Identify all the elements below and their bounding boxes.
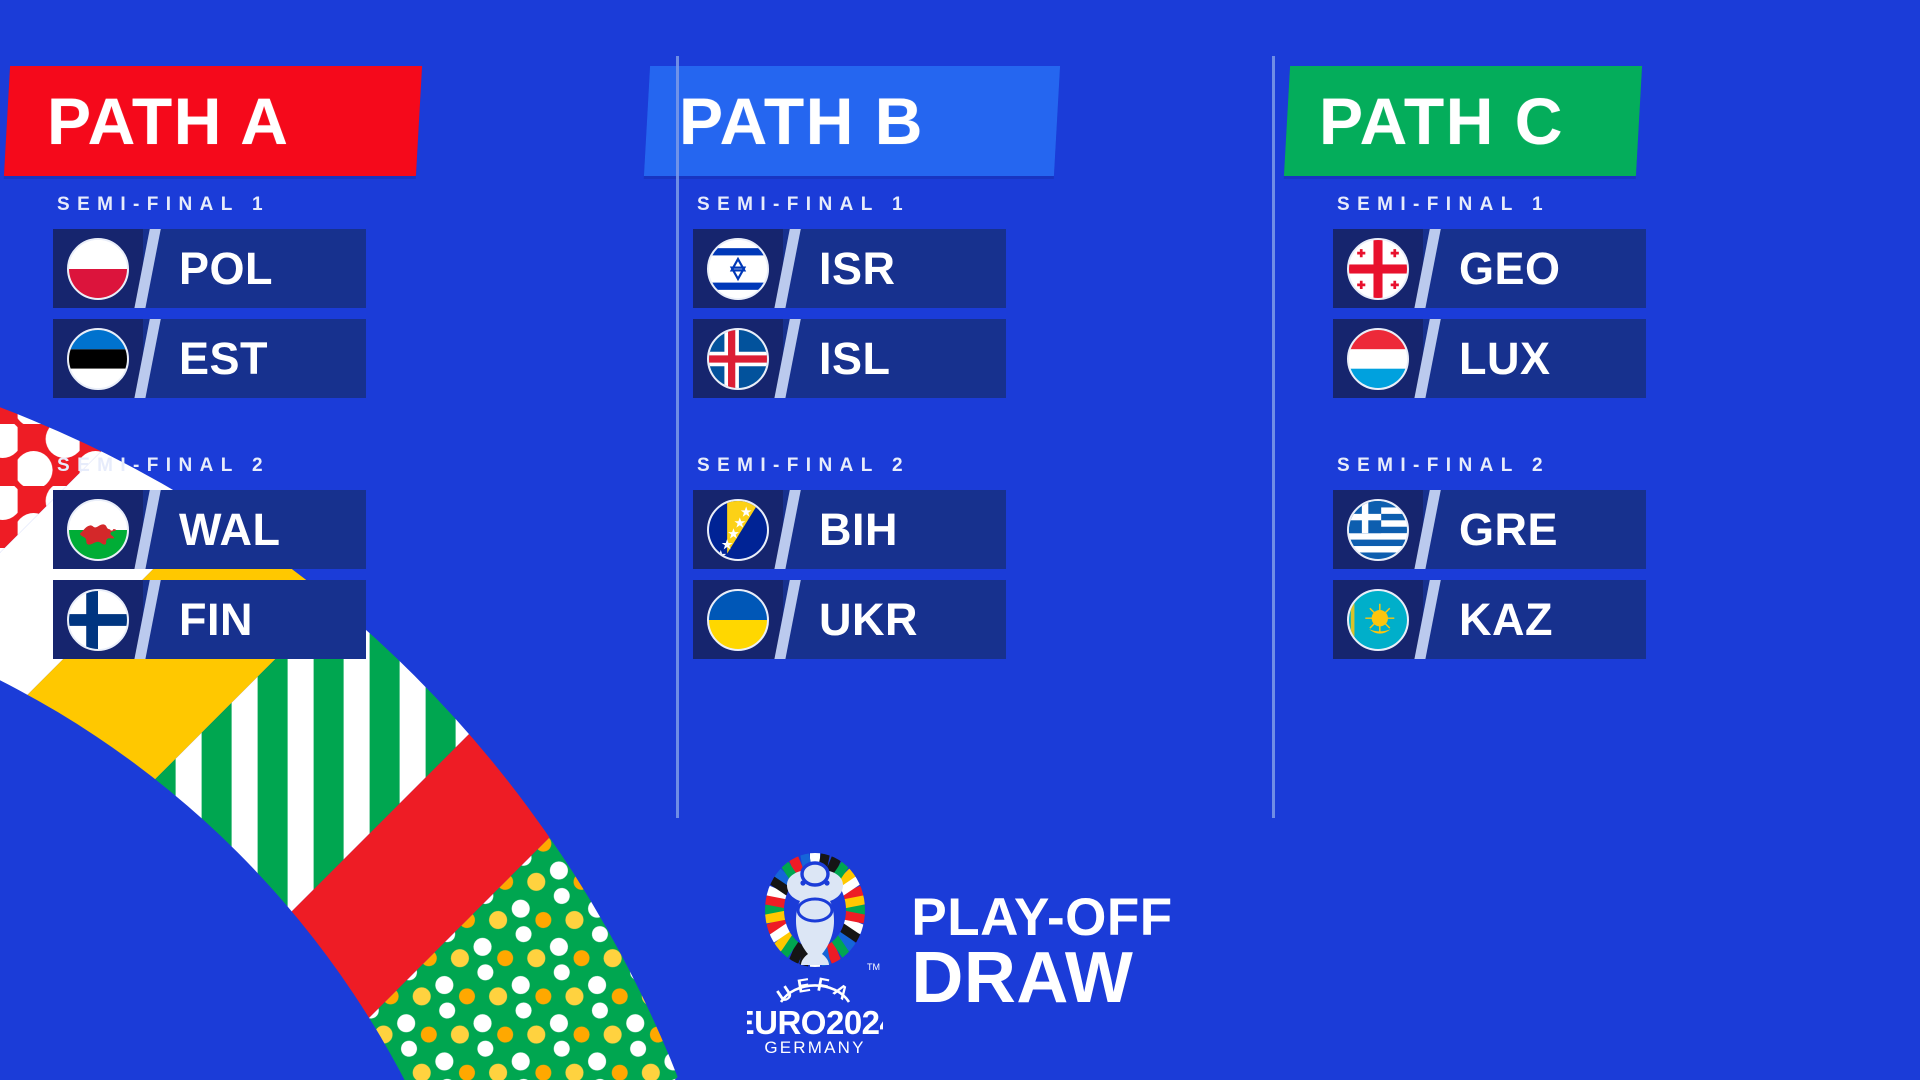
path-b-semifinal-2-label: SEMI-FINAL 2 bbox=[697, 455, 1280, 477]
kazakhstan-flag-icon bbox=[1347, 589, 1409, 651]
team-code: POL bbox=[179, 246, 273, 291]
table-row[interactable]: POL bbox=[53, 229, 366, 308]
euro-2024-wordmark: EURO2024 bbox=[747, 1004, 883, 1041]
team-code: WAL bbox=[179, 507, 280, 552]
flag-holder bbox=[53, 319, 143, 398]
table-row[interactable]: ISR bbox=[693, 229, 1006, 308]
table-row[interactable]: WAL bbox=[53, 490, 366, 569]
flag-holder bbox=[693, 580, 783, 659]
table-row[interactable]: LUX bbox=[1333, 319, 1646, 398]
playoff-draw-headline: PLAY-OFF DRAW bbox=[911, 892, 1172, 1013]
path-a-semifinal-1-group: SEMI-FINAL 1 POL EST bbox=[0, 194, 640, 398]
poland-flag-icon bbox=[67, 238, 129, 300]
path-b-banner-wrap: PATH B bbox=[640, 66, 1280, 184]
uefa-wordmark: UEFA bbox=[774, 974, 857, 1007]
path-column-a: PATH A SEMI-FINAL 1 POL bbox=[0, 0, 640, 830]
path-c-banner-wrap: PATH C bbox=[1280, 66, 1920, 184]
ukraine-flag-icon bbox=[707, 589, 769, 651]
brand-footer: TM UEFA EURO2024 GERMANY PLAY-OFF DRAW bbox=[0, 848, 1920, 1058]
flag-holder bbox=[1333, 319, 1423, 398]
flag-holder bbox=[693, 319, 783, 398]
flag-holder bbox=[1333, 490, 1423, 569]
greece-flag-icon bbox=[1347, 499, 1409, 561]
luxembourg-flag-icon bbox=[1347, 328, 1409, 390]
uefa-euro-2024-logo: TM UEFA EURO2024 GERMANY bbox=[747, 848, 883, 1058]
bosnia-herzegovina-flag-icon bbox=[707, 499, 769, 561]
flag-holder bbox=[1333, 229, 1423, 308]
path-b-title: PATH B bbox=[679, 88, 924, 154]
path-c-semifinal-1-group: SEMI-FINAL 1 bbox=[1280, 194, 1920, 398]
table-row[interactable]: UKR bbox=[693, 580, 1006, 659]
team-code: KAZ bbox=[1459, 597, 1553, 642]
column-divider-1 bbox=[676, 56, 679, 818]
path-c-semifinal-2-label: SEMI-FINAL 2 bbox=[1337, 455, 1920, 477]
path-a-semifinal-2-group: SEMI-FINAL 2 WAL bbox=[0, 455, 640, 659]
team-code: BIH bbox=[819, 507, 898, 552]
table-row[interactable]: BIH bbox=[693, 490, 1006, 569]
georgia-flag-icon bbox=[1347, 238, 1409, 300]
team-code: EST bbox=[179, 336, 268, 381]
path-c-banner: PATH C bbox=[1284, 66, 1642, 176]
headline-line-1: PLAY-OFF bbox=[911, 892, 1172, 943]
flag-holder bbox=[693, 490, 783, 569]
path-a-semifinal-1-label: SEMI-FINAL 1 bbox=[57, 194, 640, 216]
team-code: ISR bbox=[819, 246, 896, 291]
flag-holder bbox=[53, 580, 143, 659]
path-column-b: PATH B SEMI-FINAL 1 bbox=[640, 0, 1280, 830]
estonia-flag-icon bbox=[67, 328, 129, 390]
team-code: LUX bbox=[1459, 336, 1551, 381]
path-a-banner: PATH A bbox=[4, 66, 422, 176]
team-code: UKR bbox=[819, 597, 918, 642]
path-c-title: PATH C bbox=[1319, 88, 1564, 154]
path-a-semifinal-2-label: SEMI-FINAL 2 bbox=[57, 455, 640, 477]
israel-flag-icon bbox=[707, 238, 769, 300]
iceland-flag-icon bbox=[707, 328, 769, 390]
path-column-c: PATH C SEMI-FINAL 1 bbox=[1280, 0, 1920, 830]
flag-holder bbox=[693, 229, 783, 308]
team-code: FIN bbox=[179, 597, 253, 642]
headline-line-2: DRAW bbox=[911, 944, 1172, 1014]
path-c-semifinal-2-group: SEMI-FINAL 2 bbox=[1280, 455, 1920, 659]
trademark-symbol: TM bbox=[867, 962, 880, 972]
flag-holder bbox=[53, 229, 143, 308]
flag-holder bbox=[53, 490, 143, 569]
path-b-semifinal-2-group: SEMI-FINAL 2 bbox=[640, 455, 1280, 659]
flag-holder bbox=[1333, 580, 1423, 659]
path-b-semifinal-1-group: SEMI-FINAL 1 ISR bbox=[640, 194, 1280, 398]
wales-flag-icon bbox=[67, 499, 129, 561]
path-b-semifinal-1-label: SEMI-FINAL 1 bbox=[697, 194, 1280, 216]
table-row[interactable]: ISL bbox=[693, 319, 1006, 398]
team-code: ISL bbox=[819, 336, 891, 381]
path-a-banner-wrap: PATH A bbox=[0, 66, 640, 184]
table-row[interactable]: FIN bbox=[53, 580, 366, 659]
table-row[interactable]: EST bbox=[53, 319, 366, 398]
path-b-banner: PATH B bbox=[644, 66, 1060, 176]
table-row[interactable]: GEO bbox=[1333, 229, 1646, 308]
table-row[interactable]: GRE bbox=[1333, 490, 1646, 569]
finland-flag-icon bbox=[67, 589, 129, 651]
playoff-paths-container: PATH A SEMI-FINAL 1 POL bbox=[0, 0, 1920, 830]
path-a-title: PATH A bbox=[47, 88, 289, 154]
germany-host-label: GERMANY bbox=[765, 1038, 866, 1057]
team-code: GEO bbox=[1459, 246, 1561, 291]
table-row[interactable]: KAZ bbox=[1333, 580, 1646, 659]
team-code: GRE bbox=[1459, 507, 1558, 552]
column-divider-2 bbox=[1272, 56, 1275, 818]
path-c-semifinal-1-label: SEMI-FINAL 1 bbox=[1337, 194, 1920, 216]
